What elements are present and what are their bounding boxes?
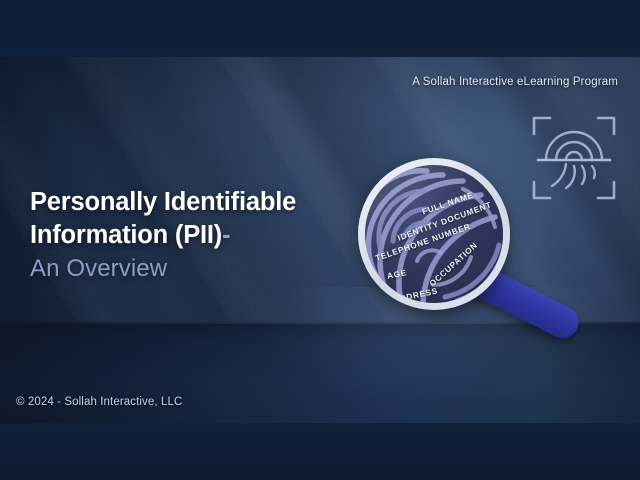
title-slide: FULL NAME IDENTITY DOCUMENT TELEPHONE NU…	[0, 0, 640, 480]
page-title: Personally Identifiable Information (PII…	[30, 186, 370, 286]
fingerprint-scan-icon	[530, 110, 618, 206]
title-line-2: Information (PII)	[30, 221, 222, 249]
title-line-2-row: Information (PII)-	[30, 219, 370, 252]
page-subtitle: An Overview	[30, 252, 370, 286]
magnifier-lens: FULL NAME IDENTITY DOCUMENT TELEPHONE NU…	[358, 158, 510, 310]
program-label: A Sollah Interactive eLearning Program	[412, 76, 618, 88]
letterbox-bottom	[0, 423, 640, 480]
letterbox-top	[0, 0, 640, 57]
copyright-notice: © 2024 - Sollah Interactive, LLC	[16, 396, 182, 408]
title-dash: -	[222, 221, 230, 249]
title-line-1: Personally Identifiable	[30, 186, 370, 219]
